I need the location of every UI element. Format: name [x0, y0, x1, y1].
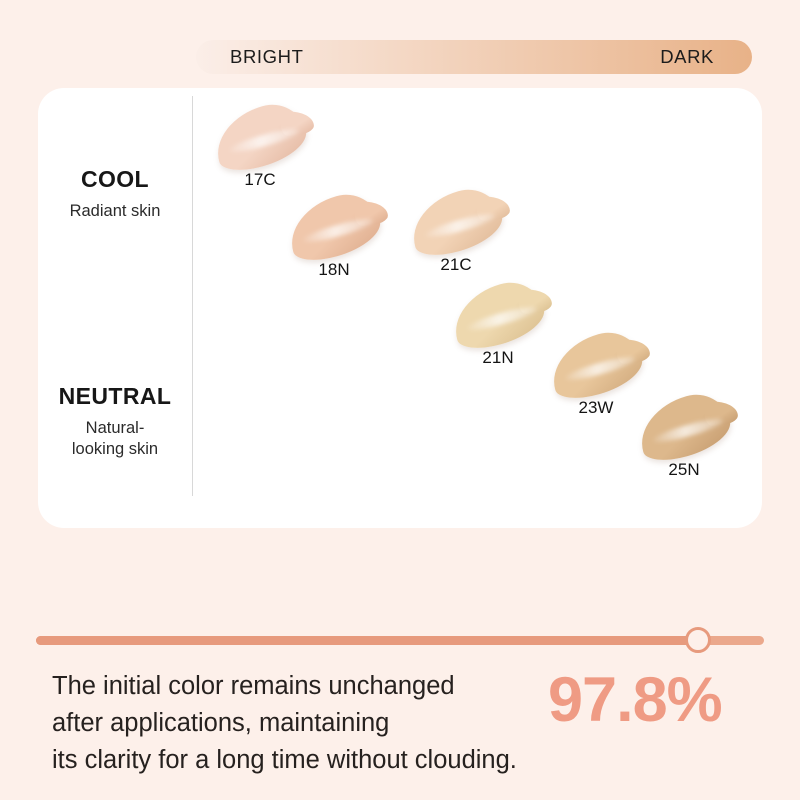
swatch-21n-blob [446, 274, 550, 355]
tone-group-neutral-title: NEUTRAL [38, 383, 192, 410]
tone-group-neutral-subtitle: Natural- looking skin [38, 418, 192, 461]
swatch-18n-label: 18N [288, 260, 380, 280]
swatch-23w[interactable]: 23W [550, 336, 642, 394]
swatch-21c-label: 21C [410, 255, 502, 275]
tone-group-neutral-subtitle-line1: Natural- [86, 419, 145, 437]
swatch-25n[interactable]: 25N [638, 398, 730, 456]
slider-knob[interactable] [685, 627, 711, 653]
tone-group-cool-title: COOL [38, 166, 192, 193]
swatch-25n-label: 25N [638, 460, 730, 480]
swatch-17c-blob [208, 96, 312, 177]
tone-group-neutral: NEUTRAL Natural- looking skin [38, 383, 192, 461]
tone-group-cool-subtitle: Radiant skin [38, 201, 192, 222]
scale-label-bright: BRIGHT [230, 46, 304, 68]
swatch-23w-blob [544, 324, 648, 405]
tone-group-neutral-subtitle-line2: looking skin [72, 440, 158, 458]
swatch-21c[interactable]: 21C [410, 193, 502, 251]
slider-fill [36, 636, 698, 645]
swatch-17c-label: 17C [214, 170, 306, 190]
claim-line-2: after applications, maintaining [52, 705, 522, 742]
scale-label-dark: DARK [660, 46, 714, 68]
card-vertical-divider [192, 96, 193, 496]
claim-line-1: The initial color remains unchanged [52, 668, 522, 705]
swatch-21n[interactable]: 21N [452, 286, 544, 344]
claim-text: The initial color remains unchanged afte… [52, 668, 522, 780]
swatch-18n-blob [282, 186, 386, 267]
stat-figure: 97.8% [548, 664, 778, 736]
claim-line-3: its clarity for a long time without clou… [52, 742, 522, 779]
swatch-18n[interactable]: 18N [288, 198, 380, 256]
swatch-card: COOL Radiant skin NEUTRAL Natural- looki… [38, 88, 762, 528]
tone-group-cool: COOL Radiant skin [38, 166, 192, 222]
swatch-17c[interactable]: 17C [214, 108, 306, 166]
swatch-25n-blob [632, 386, 736, 467]
swatch-23w-label: 23W [550, 398, 642, 418]
swatch-21n-label: 21N [452, 348, 544, 368]
shade-scale-bar: BRIGHT DARK [196, 40, 752, 74]
progress-slider[interactable] [36, 627, 764, 653]
swatch-21c-blob [404, 181, 508, 262]
